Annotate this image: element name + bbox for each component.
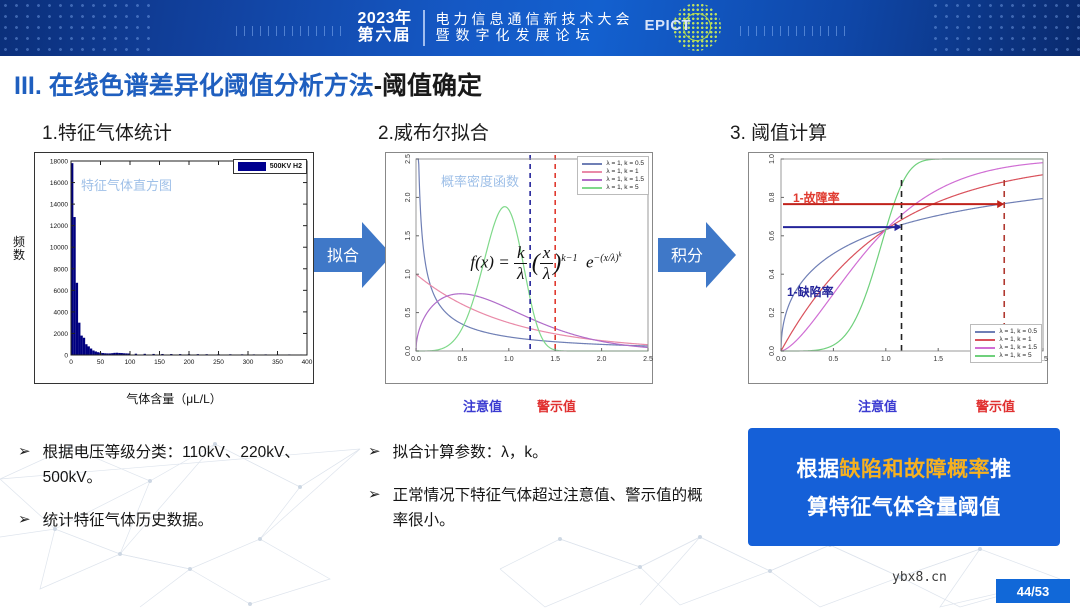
svg-text:0.0: 0.0 bbox=[776, 356, 786, 363]
bullet-text: 统计特征气体历史数据。 bbox=[43, 508, 214, 533]
svg-text:150: 150 bbox=[154, 359, 165, 366]
svg-text:0.5: 0.5 bbox=[829, 356, 839, 363]
legend-label: λ = 1, k = 0.5 bbox=[999, 328, 1037, 335]
conclusion-line1: 根据缺陷和故障概率推 bbox=[797, 453, 1012, 483]
legend-label: λ = 1, k = 5 bbox=[606, 184, 638, 191]
legend-line bbox=[975, 339, 995, 341]
bullet-list-middle: ➢ 拟合计算参数：λ，k。 ➢ 正常情况下特征气体超过注意值、警示值的概率很小。 bbox=[368, 440, 718, 551]
banner-year: 2023年 bbox=[357, 11, 411, 28]
conference-banner: 2023年 第六届 电力信息通信新技术大会 暨数字化发展论坛 EPICT bbox=[0, 0, 1080, 56]
svg-text:1.5: 1.5 bbox=[933, 356, 943, 363]
bullet-marker-icon: ➢ bbox=[368, 440, 381, 465]
histogram-chart: 0200040006000800010000120001400016000180… bbox=[34, 152, 314, 384]
svg-text:0.4: 0.4 bbox=[769, 269, 776, 279]
svg-text:400: 400 bbox=[302, 359, 313, 366]
histogram-yaxis-label: 频数 bbox=[10, 236, 28, 261]
conclusion-highlight: 缺陷和故障概率 bbox=[840, 458, 991, 481]
legend-item: λ = 1, k = 5 bbox=[582, 184, 644, 191]
conclusion-box: 根据缺陷和故障概率推 算特征气体含量阈值 bbox=[748, 428, 1060, 546]
legend-line bbox=[582, 179, 602, 181]
banner-year-block: 2023年 第六届 bbox=[357, 11, 411, 45]
legend-label: λ = 1, k = 0.5 bbox=[606, 160, 644, 167]
page-title-main: III. 在线色谱差异化阈值分析方法 bbox=[14, 72, 374, 100]
bullet-text: 正常情况下特征气体超过注意值、警示值的概率很小。 bbox=[393, 483, 718, 533]
svg-text:0.2: 0.2 bbox=[769, 308, 776, 318]
banner-title-line1: 电力信息通信新技术大会 bbox=[436, 12, 634, 28]
svg-text:0: 0 bbox=[69, 359, 73, 366]
list-item: ➢ 拟合计算参数：λ，k。 bbox=[368, 440, 718, 465]
svg-text:16000: 16000 bbox=[50, 180, 68, 187]
svg-text:100: 100 bbox=[125, 359, 136, 366]
bullet-marker-icon: ➢ bbox=[18, 440, 31, 490]
legend-item: λ = 1, k = 0.5 bbox=[975, 328, 1037, 335]
svg-text:2.0: 2.0 bbox=[597, 356, 607, 363]
bullet-marker-icon: ➢ bbox=[368, 483, 381, 533]
step3-heading: 3. 阈值计算 bbox=[730, 118, 827, 145]
svg-text:0: 0 bbox=[64, 353, 68, 360]
weibull-cdf-chart: 0.00.20.40.60.81.00.00.51.01.52.02.5 1-故… bbox=[748, 152, 1048, 384]
banner-title-block: 电力信息通信新技术大会 暨数字化发展论坛 bbox=[436, 12, 634, 43]
histogram-legend: 500KV H2 bbox=[233, 159, 307, 174]
watermark: ybx8.cn bbox=[892, 570, 947, 585]
list-item: ➢ 正常情况下特征气体超过注意值、警示值的概率很小。 bbox=[368, 483, 718, 533]
histogram-title: 特征气体直方图 bbox=[81, 175, 172, 194]
annotation-defect-rate: 1-缺陷率 bbox=[787, 283, 834, 300]
legend-label: λ = 1, k = 1 bbox=[999, 336, 1031, 343]
cdf-legend: λ = 1, k = 0.5λ = 1, k = 1λ = 1, k = 1.5… bbox=[970, 324, 1042, 363]
svg-text:1.0: 1.0 bbox=[405, 269, 412, 279]
banner-title-line2: 暨数字化发展论坛 bbox=[436, 28, 634, 44]
svg-text:2.0: 2.0 bbox=[405, 192, 412, 202]
cdf-warning-label: 警示值 bbox=[976, 396, 1015, 415]
svg-text:0.5: 0.5 bbox=[405, 308, 412, 318]
conclusion-post: 推 bbox=[990, 458, 1012, 481]
svg-text:10000: 10000 bbox=[50, 245, 68, 252]
banner-edition: 第六届 bbox=[358, 28, 412, 45]
pdf-attention-label: 注意值 bbox=[463, 396, 502, 415]
legend-line bbox=[975, 347, 995, 349]
bullet-marker-icon: ➢ bbox=[18, 508, 31, 533]
legend-label: λ = 1, k = 1.5 bbox=[606, 176, 644, 183]
epict-logo-text: EPICT bbox=[645, 17, 692, 34]
legend-item: λ = 1, k = 1.5 bbox=[975, 344, 1037, 351]
legend-item: λ = 1, k = 1.5 bbox=[582, 176, 644, 183]
epict-logo: EPICT bbox=[645, 3, 723, 53]
histogram-plot: 0200040006000800010000120001400016000180… bbox=[35, 153, 315, 385]
annotation-fault-rate: 1-故障率 bbox=[793, 189, 840, 206]
svg-text:200: 200 bbox=[184, 359, 195, 366]
banner-center: 2023年 第六届 电力信息通信新技术大会 暨数字化发展论坛 EPICT bbox=[0, 0, 1080, 56]
legend-line bbox=[582, 163, 602, 165]
legend-item: λ = 1, k = 1 bbox=[582, 168, 644, 175]
svg-text:1.0: 1.0 bbox=[769, 154, 776, 164]
svg-text:6000: 6000 bbox=[54, 288, 69, 295]
svg-text:4000: 4000 bbox=[54, 309, 69, 316]
legend-item: λ = 1, k = 0.5 bbox=[582, 160, 644, 167]
legend-label: λ = 1, k = 1 bbox=[606, 168, 638, 175]
svg-text:0.0: 0.0 bbox=[769, 346, 776, 356]
histogram-xaxis-label: 气体含量（μL/L） bbox=[34, 390, 314, 407]
step1-heading: 1.特征气体统计 bbox=[42, 118, 172, 145]
svg-text:250: 250 bbox=[213, 359, 224, 366]
process-arrow-fitting: 拟合 bbox=[314, 218, 392, 292]
legend-item: λ = 1, k = 5 bbox=[975, 352, 1037, 359]
page-title: III. 在线色谱差异化阈值分析方法-阈值确定 bbox=[14, 66, 482, 102]
svg-text:0.8: 0.8 bbox=[769, 192, 776, 202]
svg-text:350: 350 bbox=[272, 359, 283, 366]
weibull-formula: f(x) = k λ ( x λ)k−1 e−(x/λ)k bbox=[436, 243, 656, 284]
page-title-suffix: -阈值确定 bbox=[374, 72, 482, 100]
bullet-text: 根据电压等级分类：110kV、220kV、500kV。 bbox=[43, 440, 348, 490]
svg-text:1.0: 1.0 bbox=[881, 356, 891, 363]
step2-heading: 2.威布尔拟合 bbox=[378, 118, 489, 145]
legend-label: λ = 1, k = 1.5 bbox=[999, 344, 1037, 351]
cdf-attention-label: 注意值 bbox=[858, 396, 897, 415]
svg-text:2.5: 2.5 bbox=[643, 356, 653, 363]
process-arrow-integration: 积分 bbox=[658, 218, 736, 292]
pdf-title: 概率密度函数 bbox=[441, 171, 519, 190]
svg-text:0.0: 0.0 bbox=[405, 346, 412, 356]
bullet-text: 拟合计算参数：λ，k。 bbox=[393, 440, 548, 465]
svg-text:18000: 18000 bbox=[50, 159, 68, 166]
slide-root: 2023年 第六届 电力信息通信新技术大会 暨数字化发展论坛 EPICT bbox=[0, 0, 1080, 609]
svg-text:2.5: 2.5 bbox=[405, 154, 412, 164]
bullet-list-left: ➢ 根据电压等级分类：110kV、220kV、500kV。 ➢ 统计特征气体历史… bbox=[18, 440, 348, 551]
pdf-warning-label: 警示值 bbox=[537, 396, 576, 415]
legend-line bbox=[975, 331, 995, 333]
svg-text:14000: 14000 bbox=[50, 202, 68, 209]
banner-divider bbox=[423, 10, 425, 46]
legend-label: 500KV H2 bbox=[270, 163, 302, 170]
svg-text:8000: 8000 bbox=[54, 266, 69, 273]
legend-line bbox=[582, 171, 602, 173]
list-item: ➢ 根据电压等级分类：110kV、220kV、500kV。 bbox=[18, 440, 348, 490]
svg-text:1.5: 1.5 bbox=[550, 356, 560, 363]
svg-text:50: 50 bbox=[97, 359, 105, 366]
list-item: ➢ 统计特征气体历史数据。 bbox=[18, 508, 348, 533]
legend-item: λ = 1, k = 1 bbox=[975, 336, 1037, 343]
svg-text:0.5: 0.5 bbox=[458, 356, 468, 363]
svg-text:12000: 12000 bbox=[50, 223, 68, 230]
legend-swatch bbox=[238, 162, 266, 171]
svg-text:0.6: 0.6 bbox=[769, 231, 776, 241]
page-number-badge: 44/53 bbox=[996, 579, 1070, 603]
conclusion-pre: 根据 bbox=[797, 458, 840, 481]
svg-text:0.0: 0.0 bbox=[411, 356, 421, 363]
pdf-legend: λ = 1, k = 0.5λ = 1, k = 1λ = 1, k = 1.5… bbox=[577, 156, 649, 195]
svg-text:1.5: 1.5 bbox=[405, 231, 412, 241]
legend-line bbox=[975, 355, 995, 357]
arrow-label-integration: 积分 bbox=[664, 242, 710, 266]
conclusion-line2: 算特征气体含量阈值 bbox=[807, 491, 1001, 521]
legend-label: λ = 1, k = 5 bbox=[999, 352, 1031, 359]
arrow-label-fitting: 拟合 bbox=[320, 242, 366, 266]
svg-text:2000: 2000 bbox=[54, 331, 69, 338]
legend-line bbox=[582, 187, 602, 189]
svg-text:1.0: 1.0 bbox=[504, 356, 514, 363]
svg-text:300: 300 bbox=[243, 359, 254, 366]
